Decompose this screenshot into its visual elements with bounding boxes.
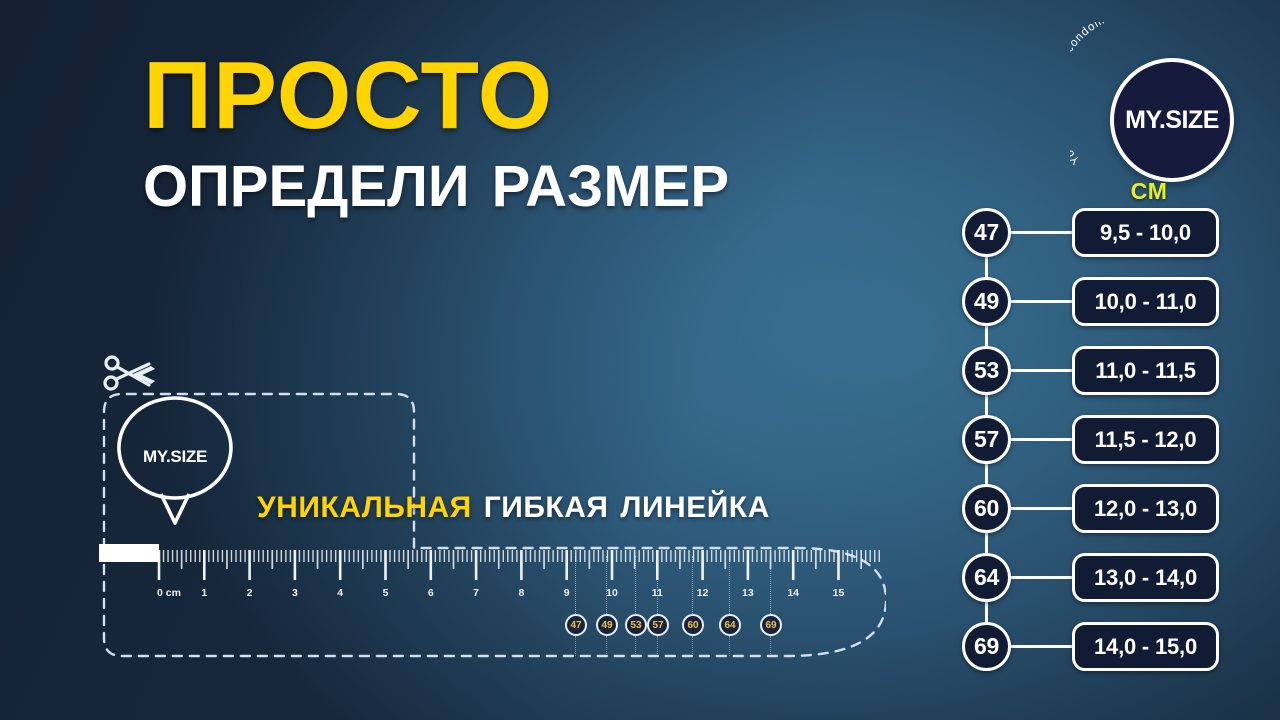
size-range-pill-57[interactable]: 11,5 - 12,0	[1072, 415, 1219, 464]
ruler-badge-69[interactable]: 69	[760, 614, 782, 636]
row-connector-line	[1008, 369, 1076, 372]
ruler-label-7: 7	[473, 587, 479, 599]
caption-word-flexible: ГИБКАЯ	[484, 491, 609, 524]
size-range-pill-49[interactable]: 10,0 - 11,0	[1072, 277, 1219, 326]
ruler-label-4: 4	[337, 587, 343, 599]
brand-logo: Your perfect sized condom MY.SIZE	[1070, 22, 1250, 202]
cutout-ruler-panel: MY.SIZE УНИКАЛЬНАЯГИБКАЯЛИНЕЙКА 0 cm1234…	[96, 352, 886, 670]
size-range-pill-60[interactable]: 12,0 - 13,0	[1072, 484, 1219, 533]
row-vertical-link	[985, 392, 988, 417]
ruler-label-9: 9	[564, 587, 570, 599]
ruler-label-zero: 0 cm	[157, 587, 181, 599]
speech-bubble-label: MY.SIZE	[105, 447, 245, 467]
caption-word-unique: УНИКАЛЬНАЯ	[257, 491, 472, 524]
ruler-label-3: 3	[292, 587, 298, 599]
headline-secondary-word-1: ОПРЕДЕЛИ	[143, 154, 470, 219]
ruler-badge-53[interactable]: 53	[625, 614, 647, 636]
ruler-label-2: 2	[247, 587, 253, 599]
ruler-label-13: 13	[742, 587, 754, 599]
size-badge-64[interactable]: 64	[962, 553, 1011, 602]
ruler-label-12: 12	[697, 587, 709, 599]
ruler-badge-47[interactable]: 47	[565, 614, 587, 636]
poster-canvas: ПРОСТО ОПРЕДЕЛИРАЗМЕР Your perfect sized…	[0, 0, 1280, 720]
size-badge-60[interactable]: 60	[962, 484, 1011, 533]
ruler-badge-64[interactable]: 64	[719, 614, 741, 636]
size-badge-49[interactable]: 49	[962, 277, 1011, 326]
badge-guide-line	[606, 556, 607, 614]
size-range-pill-53[interactable]: 11,0 - 11,5	[1072, 346, 1219, 395]
badge-guide-line	[770, 556, 771, 614]
badge-guide-line-lower	[635, 636, 636, 656]
size-range-pill-47[interactable]: 9,5 - 10,0	[1072, 208, 1219, 257]
size-range-pill-69[interactable]: 14,0 - 15,0	[1072, 622, 1219, 671]
row-vertical-link	[985, 254, 988, 279]
row-vertical-link	[985, 461, 988, 486]
headline-primary: ПРОСТО	[143, 48, 729, 144]
ruler-label-15: 15	[833, 587, 845, 599]
size-badge-57[interactable]: 57	[962, 415, 1011, 464]
headline-block: ПРОСТО ОПРЕДЕЛИРАЗМЕР	[143, 48, 729, 216]
ruler-label-8: 8	[518, 587, 524, 599]
badge-guide-line-lower	[770, 636, 771, 656]
size-badge-53[interactable]: 53	[962, 346, 1011, 395]
size-range-pill-64[interactable]: 13,0 - 14,0	[1072, 553, 1219, 602]
ruler-caption: УНИКАЛЬНАЯГИБКАЯЛИНЕЙКА	[257, 491, 770, 525]
unit-label-cm: CM	[1104, 178, 1194, 205]
ruler-label-5: 5	[383, 587, 389, 599]
badge-guide-line	[692, 556, 693, 614]
row-vertical-link	[985, 599, 988, 624]
badge-guide-line	[635, 556, 636, 614]
ruler-label-14: 14	[787, 587, 799, 599]
badge-guide-line	[575, 556, 576, 614]
headline-secondary: ОПРЕДЕЛИРАЗМЕР	[143, 158, 729, 216]
row-connector-line	[1008, 507, 1076, 510]
ruler-badge-60[interactable]: 60	[682, 614, 704, 636]
row-connector-line	[1008, 645, 1076, 648]
logo-tagline-text: Your perfect sized condom	[1070, 22, 1107, 166]
logo-circle: MY.SIZE	[1110, 58, 1234, 182]
ruler-start-block	[99, 544, 159, 562]
badge-guide-line-lower	[692, 636, 693, 656]
row-connector-line	[1008, 300, 1076, 303]
badge-guide-line	[657, 556, 658, 614]
ruler-label-10: 10	[606, 587, 618, 599]
badge-guide-line-lower	[729, 636, 730, 656]
row-vertical-link	[985, 323, 988, 348]
size-badge-69[interactable]: 69	[962, 622, 1011, 671]
logo-brand-text: MY.SIZE	[1125, 106, 1219, 135]
measuring-ruler: 0 cm123456789101112131415	[96, 542, 886, 612]
badge-guide-line-lower	[575, 636, 576, 656]
row-vertical-link	[985, 530, 988, 555]
caption-word-ruler: ЛИНЕЙКА	[620, 491, 769, 524]
row-connector-line	[1008, 438, 1076, 441]
badge-guide-line-lower	[657, 636, 658, 656]
size-badge-47[interactable]: 47	[962, 208, 1011, 257]
badge-guide-line-lower	[606, 636, 607, 656]
headline-secondary-word-2: РАЗМЕР	[492, 154, 730, 219]
badge-guide-line	[729, 556, 730, 614]
ruler-label-1: 1	[201, 587, 207, 599]
ruler-label-6: 6	[428, 587, 434, 599]
row-connector-line	[1008, 231, 1076, 234]
ruler-size-badges: 47495357606469	[96, 614, 886, 644]
row-connector-line	[1008, 576, 1076, 579]
ruler-badge-49[interactable]: 49	[596, 614, 618, 636]
ruler-badge-57[interactable]: 57	[647, 614, 669, 636]
